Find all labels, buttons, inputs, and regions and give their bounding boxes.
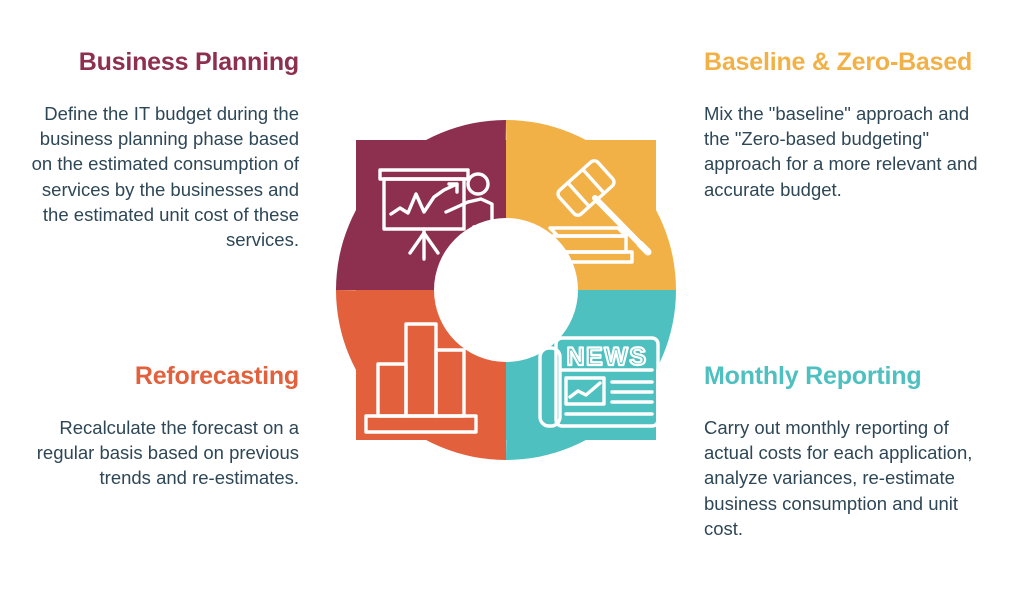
wheel-segment-reforecasting[interactable] — [336, 290, 506, 460]
quadrant-heading-monthly-reporting: Monthly Reporting — [704, 362, 992, 391]
quadrant-body-reforecasting: Recalculate the forecast on a regular ba… — [22, 415, 299, 491]
quadrant-body-monthly-reporting: Carry out monthly reporting of actual co… — [704, 415, 992, 542]
newspaper-masthead-label: NEWS — [567, 343, 648, 371]
quadrant-text-monthly-reporting: Monthly Reporting Carry out monthly repo… — [704, 362, 992, 541]
quadrant-body-business-planning: Define the IT budget during the business… — [22, 101, 299, 253]
quadrant-text-reforecasting: Reforecasting Recalculate the forecast o… — [22, 362, 299, 491]
quadrant-heading-reforecasting: Reforecasting — [22, 362, 299, 391]
quadrant-text-business-planning: Business Planning Define the IT budget d… — [22, 48, 299, 253]
infographic-canvas: Business Planning Define the IT budget d… — [0, 0, 1024, 603]
donut-wheel-graphic: NEWS — [318, 102, 694, 478]
quadrant-text-baseline-zero-based: Baseline & Zero-Based Mix the "baseline"… — [704, 48, 992, 202]
quadrant-body-baseline-zero-based: Mix the "baseline" approach and the "Zer… — [704, 101, 992, 202]
quadrant-heading-business-planning: Business Planning — [22, 48, 299, 77]
quadrant-heading-baseline-zero-based: Baseline & Zero-Based — [704, 48, 992, 77]
wheel-segment-monthly-reporting[interactable] — [506, 290, 676, 460]
